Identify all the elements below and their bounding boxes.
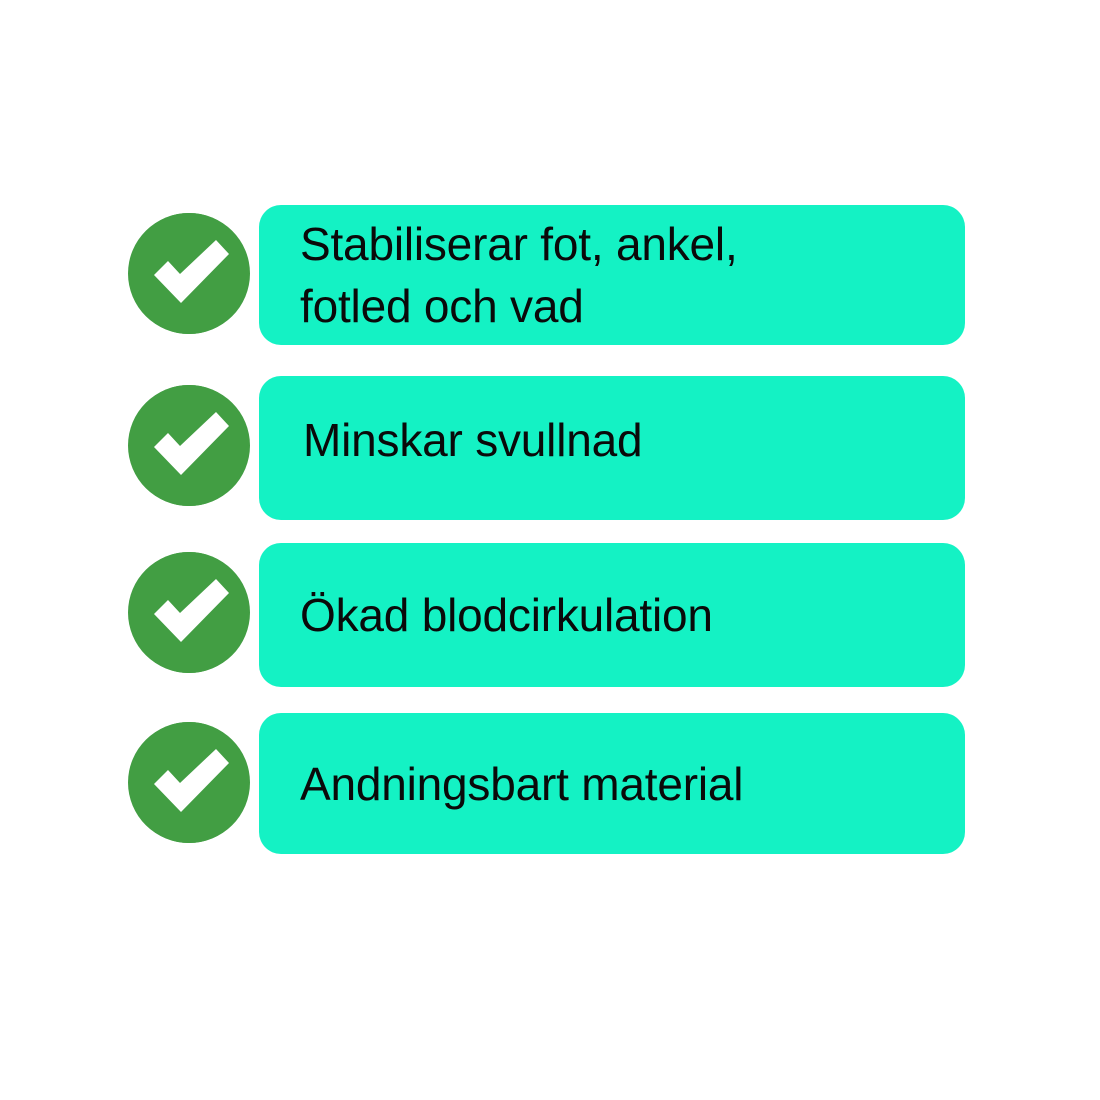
benefit-label: Ökad blodcirkulation	[300, 584, 965, 646]
benefit-pill: Stabiliserar fot, ankel, fotled och vad	[259, 205, 965, 345]
check-circle-icon	[128, 213, 250, 334]
benefit-label: Stabiliserar fot, ankel, fotled och vad	[300, 213, 965, 337]
benefit-label: Minskar svullnad	[303, 409, 968, 471]
benefits-list: Stabiliserar fot, ankel, fotled och vad …	[0, 0, 1100, 1100]
benefit-pill: Ökad blodcirkulation	[259, 543, 965, 687]
benefit-pill: Minskar svullnad	[259, 376, 965, 520]
benefit-label: Andningsbart material	[300, 753, 965, 815]
check-circle-icon	[128, 385, 250, 506]
benefit-pill: Andningsbart material	[259, 713, 965, 854]
check-circle-icon	[128, 722, 250, 843]
check-circle-icon	[128, 552, 250, 673]
